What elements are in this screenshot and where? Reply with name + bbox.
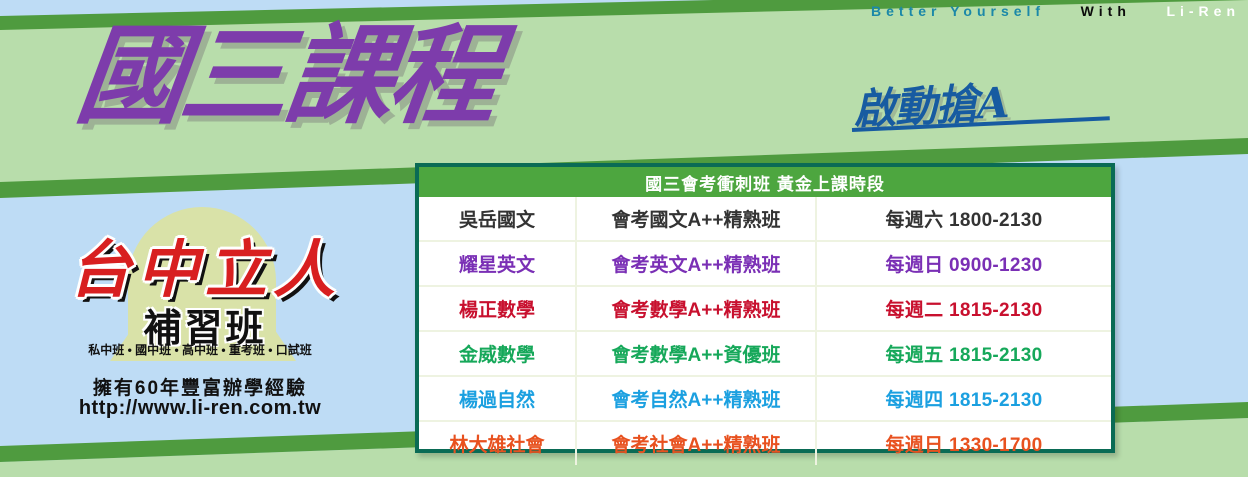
cell-teacher: 林大雄社會 — [419, 421, 576, 465]
cell-teacher: 吳岳國文 — [419, 197, 576, 241]
table-row: 林大雄社會會考社會A++精熟班每週日 1330-1700 — [419, 421, 1111, 465]
page-title: 國三課程 — [70, 14, 501, 139]
tagline-part3: Li-Ren — [1166, 3, 1240, 19]
cell-course: 會考社會A++精熟班 — [576, 421, 816, 465]
cell-course: 會考自然A++精熟班 — [576, 376, 816, 421]
schedule-table: 國三會考衝刺班 黃金上課時段 吳岳國文會考國文A++精熟班每週六 1800-21… — [419, 167, 1111, 465]
table-row: 金威數學會考數學A++資優班每週五 1815-2130 — [419, 331, 1111, 376]
brand-logo: 台中立人 補習班 私中班 • 國中班 • 高中班 • 重考班 • 口試班 擁有6… — [0, 205, 400, 420]
logo-experience: 擁有60年豐富辦學經驗 — [0, 373, 400, 400]
table-row: 楊過自然會考自然A++精熟班每週四 1815-2130 — [419, 376, 1111, 421]
cell-time: 每週四 1815-2130 — [816, 376, 1111, 421]
tagline-part2: With — [1081, 3, 1131, 19]
table-row: 吳岳國文會考國文A++精熟班每週六 1800-2130 — [419, 197, 1111, 241]
cell-time: 每週六 1800-2130 — [816, 197, 1111, 241]
cell-course: 會考數學A++精熟班 — [576, 286, 816, 331]
table-row: 耀星英文會考英文A++精熟班每週日 0900-1230 — [419, 241, 1111, 286]
cell-teacher: 楊正數學 — [419, 286, 576, 331]
table-row: 楊正數學會考數學A++精熟班每週二 1815-2130 — [419, 286, 1111, 331]
cell-teacher: 耀星英文 — [419, 241, 576, 286]
cell-time: 每週日 0900-1230 — [816, 241, 1111, 286]
banner-root: Better Yourself With Li-Ren 國三課程 啟動搶A 台中… — [0, 0, 1248, 477]
table-header-row: 國三會考衝刺班 黃金上課時段 — [419, 167, 1111, 197]
cell-teacher: 金威數學 — [419, 331, 576, 376]
cell-course: 會考國文A++精熟班 — [576, 197, 816, 241]
cell-time: 每週日 1330-1700 — [816, 421, 1111, 465]
cell-time: 每週二 1815-2130 — [816, 286, 1111, 331]
logo-class-list: 私中班 • 國中班 • 高中班 • 重考班 • 口試班 — [0, 341, 400, 358]
logo-website-url[interactable]: http://www.li-ren.com.tw — [0, 397, 400, 420]
cell-time: 每週五 1815-2130 — [816, 331, 1111, 376]
cell-course: 會考英文A++精熟班 — [576, 241, 816, 286]
table-body: 吳岳國文會考國文A++精熟班每週六 1800-2130耀星英文會考英文A++精熟… — [419, 197, 1111, 465]
tagline-part1: Better Yourself — [871, 3, 1045, 19]
cell-teacher: 楊過自然 — [419, 376, 576, 421]
table-header-title: 國三會考衝刺班 黃金上課時段 — [419, 167, 1111, 197]
logo-name: 台中立人 — [20, 219, 390, 309]
cell-course: 會考數學A++資優班 — [576, 331, 816, 376]
schedule-table-container: 國三會考衝刺班 黃金上課時段 吳岳國文會考國文A++精熟班每週六 1800-21… — [415, 163, 1115, 453]
